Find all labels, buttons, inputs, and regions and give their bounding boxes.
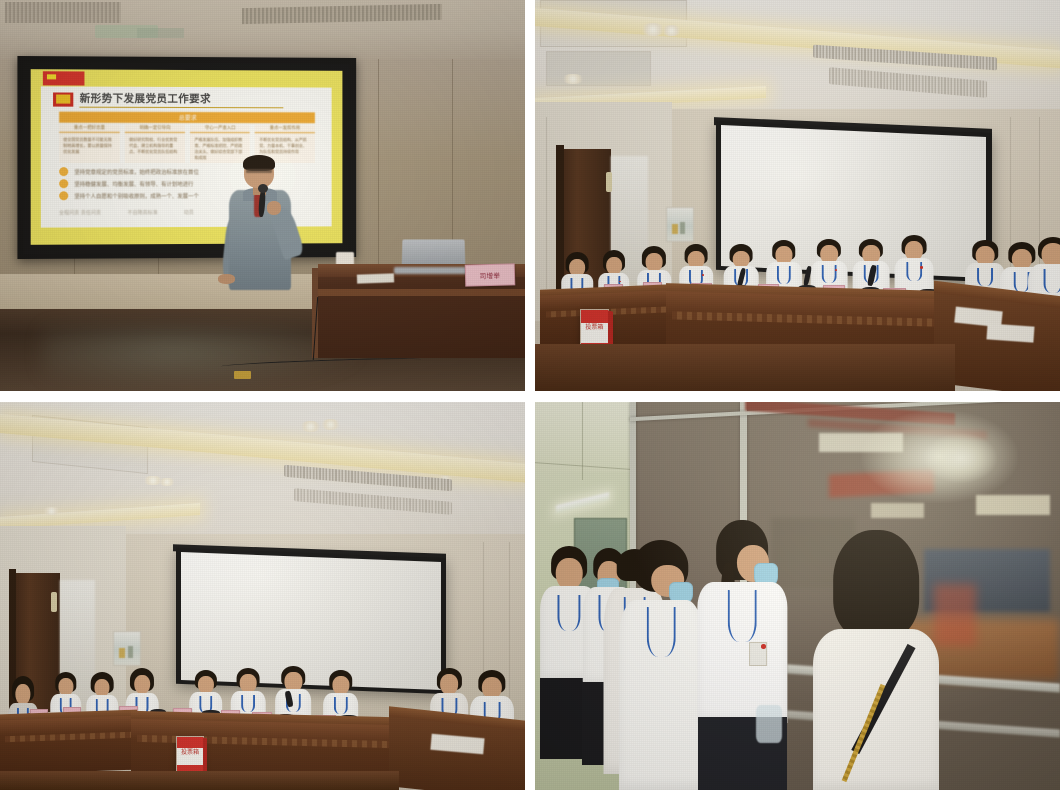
desk-base — [535, 344, 955, 391]
bullet-text: 坚持稳健发展、均衡发展、有领导、有计划地进行 — [74, 180, 193, 188]
ceiling-spotlight-icon — [320, 419, 341, 429]
list-item: 坚持稳健发展、均衡发展、有领导、有计划地进行 — [59, 178, 320, 190]
factory-worker-silhouette — [934, 584, 976, 646]
collage-panel-bottom-left: 投票箱 — [0, 397, 530, 790]
presenter-hand — [267, 201, 282, 214]
ballot-box-stripe — [581, 310, 608, 323]
photo-collage: 新形势下发展党员工作要求 总要求 重点一把好总量 使全国党员数量不可能无限制地高… — [0, 0, 1060, 790]
door-handle-icon[interactable] — [606, 172, 612, 192]
framed-artwork — [113, 631, 141, 666]
slide-footer-item: 不自降高标准 — [128, 210, 158, 217]
wall-seam — [546, 117, 547, 289]
factory-light-panel — [976, 495, 1050, 514]
ballot-box-label: 投票箱 — [177, 750, 203, 765]
presenter-hand — [218, 274, 235, 283]
water-bottle — [756, 705, 782, 744]
factory-light-panel — [871, 503, 924, 519]
laptop-base — [394, 267, 473, 275]
visitor-with-mask — [619, 540, 703, 790]
bullet-dot-icon — [59, 192, 68, 201]
window-glare — [924, 433, 998, 483]
slide-title: 新形势下发展党员工作要求 — [80, 90, 306, 108]
photo-lecture-hall: 新形势下发展党员工作要求 总要求 重点一把好总量 使全国党员数量不可能无限制地高… — [0, 0, 525, 391]
ceiling-grille-icon — [5, 2, 121, 24]
ballot-box-label: 投票箱 — [581, 325, 608, 342]
bullet-dot-icon — [59, 180, 68, 189]
bullet-text: 坚持个人自愿和个别吸收原则，成熟一个、发展一个 — [74, 192, 199, 200]
collage-panel-top-left: 新形势下发展党员工作要求 总要求 重点一把好总量 使全国党员数量不可能无限制地高… — [0, 0, 530, 397]
title-underline — [80, 107, 283, 109]
collage-panel-top-right: 投票箱 — [530, 0, 1060, 397]
door-handle-icon[interactable] — [51, 592, 56, 611]
eyeglasses-icon — [246, 169, 272, 173]
collage-panel-bottom-right — [530, 397, 1060, 790]
floor-socket — [234, 371, 252, 379]
photo-conference-room-b: 投票箱 — [0, 402, 525, 790]
list-item: 坚持党章规定的党员标准，始终把政治标准放在首位 — [59, 166, 320, 178]
microphone-head-icon — [258, 184, 268, 193]
slide-table-header: 总要求 — [59, 112, 315, 124]
ceiling-vent-icon — [137, 28, 184, 37]
name-plate: 司增举 — [464, 263, 514, 286]
slide-footer-item: 全程问责 责任问责 — [59, 210, 101, 217]
column-body: 使全国党员数量不可能无限制地高增长，要以质量保持优化发展 — [59, 133, 120, 163]
slide-footer-item: 动员 — [184, 209, 194, 216]
column-body: 做好研究院校、行业优势党代会、建立机构指导的重点、不断优化党员队伍结构 — [125, 133, 185, 163]
lectern-trim — [318, 289, 525, 295]
chinese-flag-icon — [43, 72, 84, 86]
visitor-with-bag — [813, 530, 939, 790]
slide-table-column: 重点一把好总量 使全国党员数量不可能无限制地高增长，要以质量保持优化发展 — [59, 125, 120, 163]
desk-base — [0, 771, 399, 790]
column-body: 严格发展队伍、加强组织教育、严格标准把控、严把政治关头、做好综合党部下部和成效 — [190, 133, 250, 163]
ballot-box-stripe — [177, 737, 203, 748]
slide-table-column: 明确一定引导向 做好研究院校、行业优势党代会、建立机构指导的重点、不断优化党员队… — [125, 125, 185, 163]
visitor-with-mask — [698, 520, 787, 790]
conference-desk — [0, 716, 137, 775]
paper-sheet — [986, 323, 1034, 342]
photo-factory-visit — [535, 402, 1060, 790]
projection-screen: 新形势下发展党员工作要求 总要求 重点一把好总量 使全国党员数量不可能无限制地高… — [24, 62, 349, 253]
framed-artwork — [666, 207, 693, 242]
bullet-dot-icon — [59, 168, 68, 177]
slide-table-column: 守心一严查入口 严格发展队伍、加强组织教育、严格标准把控、严把政治关头、做好综合… — [190, 125, 250, 163]
bullet-text: 坚持党章规定的党员标准，始终把政治标准放在首位 — [74, 168, 199, 176]
slide-table: 重点一把好总量 使全国党员数量不可能无限制地高增长，要以质量保持优化发展 明确一… — [59, 125, 315, 162]
presentation-slide: 新形势下发展党员工作要求 总要求 重点一把好总量 使全国党员数量不可能无限制地高… — [30, 69, 342, 245]
ceiling-seam — [582, 402, 583, 480]
party-emblem-icon — [53, 92, 74, 106]
photo-conference-room-a: 投票箱 — [535, 0, 1060, 391]
